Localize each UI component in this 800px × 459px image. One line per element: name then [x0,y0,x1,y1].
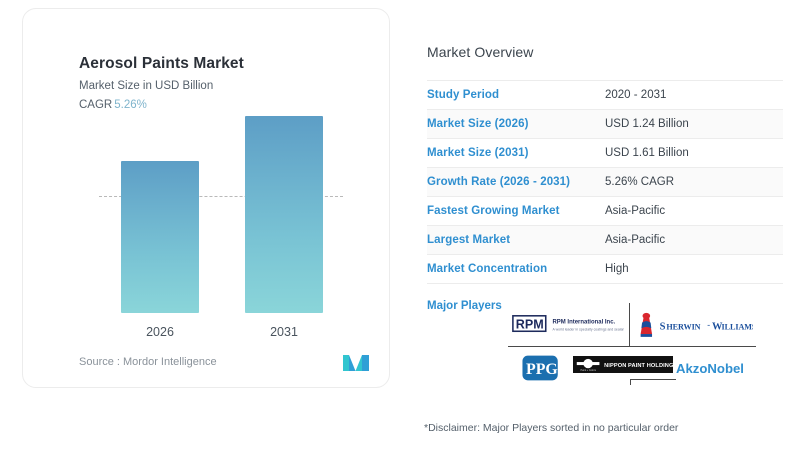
nippon-cell-frame [630,379,676,385]
akzonobel-logo: AkzoNobel [675,358,755,378]
row-label: Market Size (2026) [427,110,605,139]
table-row: Market Concentration High [427,255,783,284]
svg-text:NIPPON PAINT HOLDINGS: NIPPON PAINT HOLDINGS [604,362,673,368]
row-value: USD 1.61 Billion [605,139,783,168]
market-overview-panel: Market Overview Study Period 2020 - 2031… [427,44,783,312]
bar-chart-plot: USD 1.24 B USD 1.61 B 2026 2031 [23,127,391,349]
cagr-value: 5.26% [114,99,147,111]
chart-cagr: CAGR5.26% [79,98,369,113]
page-title: Aerosol Paints Market [79,55,369,72]
table-row: Market Size (2031) USD 1.61 Billion [427,139,783,168]
ppg-logo: PPG [516,353,566,383]
row-value: USD 1.24 Billion [605,110,783,139]
x-axis-label-2031: 2031 [245,325,323,339]
table-row: Growth Rate (2026 - 2031) 5.26% CAGR [427,168,783,197]
row-label: Largest Market [427,226,605,255]
row-value: Asia-Pacific [605,197,783,226]
major-players-logo-grid: RPM RPM International Inc. A world leade… [508,303,756,389]
row-value: 2020 - 2031 [605,81,783,110]
table-row: Largest Market Asia-Pacific [427,226,783,255]
nippon-paint-holdings-logo: NIPPON PAINT HOLDINGS Paint + Colors [573,356,673,373]
chart-subtitle: Market Size in USD Billion [79,79,369,94]
logo-sherwin-williams: S HERWIN - W ILLIAMS. [630,303,756,345]
table-row: Market Size (2026) USD 1.24 Billion [427,110,783,139]
logo-nippon-paint-holdings: NIPPON PAINT HOLDINGS Paint + Colors [570,343,676,385]
cagr-label: CAGR [79,99,112,111]
row-label: Growth Rate (2026 - 2031) [427,168,605,197]
svg-text:PPG: PPG [526,361,558,378]
svg-text:A world leader in specialty co: A world leader in specialty coatings and… [553,327,624,331]
row-label: Study Period [427,81,605,110]
svg-text:-: - [707,319,710,329]
overview-table: Study Period 2020 - 2031 Market Size (20… [427,80,783,284]
svg-text:Paint + Colors: Paint + Colors [581,369,597,372]
row-value: Asia-Pacific [605,226,783,255]
svg-text:S: S [660,321,666,332]
source-label: Source : Mordor Intelligence [79,356,217,368]
logo-akzonobel: AkzoNobel [674,347,756,389]
disclaimer-text: *Disclaimer: Major Players sorted in no … [424,422,678,434]
row-value: 5.26% CAGR [605,168,783,197]
logo-rpm-international: RPM RPM International Inc. A world leade… [508,303,626,345]
bar-2031 [245,116,323,313]
bar-2026 [121,161,199,313]
table-row: Study Period 2020 - 2031 [427,81,783,110]
table-row: Fastest Growing Market Asia-Pacific [427,197,783,226]
sherwin-williams-logo: S HERWIN - W ILLIAMS. [633,309,753,340]
x-axis-label-2026: 2026 [121,325,199,339]
logo-ppg: PPG [508,347,574,389]
row-label: Fastest Growing Market [427,197,605,226]
svg-text:ILLIAMS.: ILLIAMS. [722,322,753,331]
svg-text:RPM: RPM [516,317,544,331]
rpm-international-logo: RPM RPM International Inc. A world leade… [510,310,624,339]
chart-header: Aerosol Paints Market Market Size in USD… [79,55,369,113]
overview-title: Market Overview [427,44,783,60]
row-label: Market Concentration [427,255,605,284]
mordor-intelligence-logo [343,353,369,371]
row-label: Market Size (2031) [427,139,605,168]
source-row: Source : Mordor Intelligence [79,353,369,371]
row-value: High [605,255,783,284]
svg-text:RPM International Inc.: RPM International Inc. [553,319,616,325]
svg-text:AkzoNobel: AkzoNobel [676,361,744,376]
svg-text:HERWIN: HERWIN [666,322,700,331]
chart-card: Aerosol Paints Market Market Size in USD… [22,8,390,388]
